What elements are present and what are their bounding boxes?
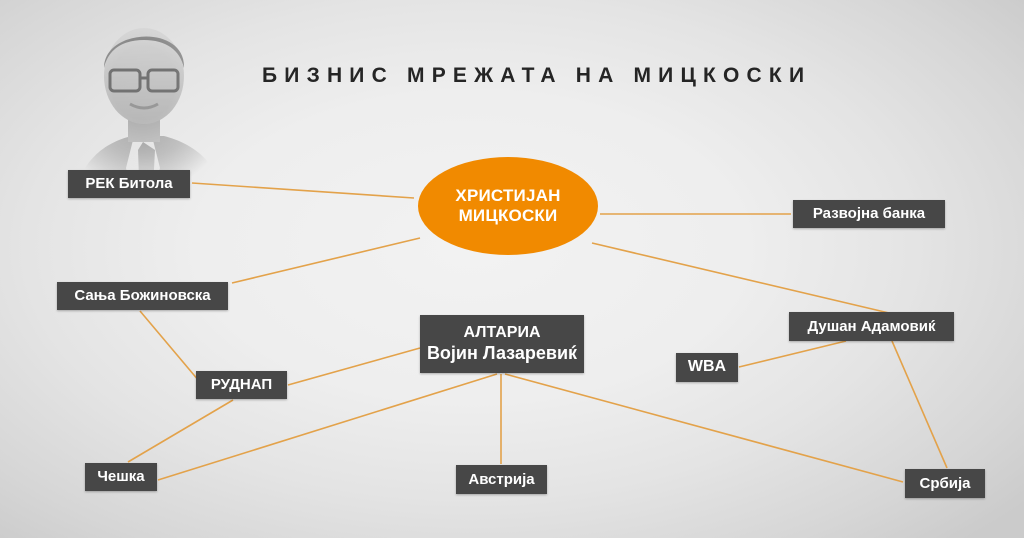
hub-label-line2: МИЦКОСКИ: [459, 206, 558, 226]
edge-hub-to-sanja-bozinovska: [232, 238, 420, 283]
edge-hub-to-rek-bitola: [192, 183, 414, 198]
node-razvojna-banka[interactable]: Развојна банка: [793, 200, 945, 228]
node-ceska[interactable]: Чешка: [85, 463, 157, 491]
central-node-hristijan-mickoski[interactable]: ХРИСТИЈАН МИЦКОСКИ: [418, 157, 598, 255]
node-wba[interactable]: WBA: [676, 353, 738, 382]
node-rudnap[interactable]: РУДНАП: [196, 371, 287, 399]
edge-rudnap-to-ceska: [128, 400, 233, 462]
edge-dusan-adamovik-to-srbija: [892, 341, 947, 468]
hub-label-line1: ХРИСТИЈАН: [455, 186, 560, 206]
edge-sanja-bozinovska-to-rudnap: [140, 311, 199, 381]
node-altaria[interactable]: АЛТАРИАВојин Лазаревиќ: [420, 315, 584, 373]
node-srbija[interactable]: Србија: [905, 469, 985, 498]
node-label-altaria: АЛТАРИА: [463, 324, 540, 343]
edge-altaria-to-srbija: [505, 374, 903, 482]
node-label-avstrija: Австрија: [468, 471, 534, 488]
node-label-razvojna-banka: Развојна банка: [813, 205, 925, 222]
edge-hub-to-dusan-adamovik: [592, 243, 889, 313]
node-dusan-adamovik[interactable]: Душан Адамовиќ: [789, 312, 954, 341]
infographic-canvas: БИЗНИС МРЕЖАТА НА МИЦКОСКИ ХРИСТИЈАН МИЦ…: [0, 0, 1024, 538]
node-rek-bitola[interactable]: РЕК Битола: [68, 170, 190, 198]
node-label-srbija: Србија: [920, 475, 971, 492]
node-label-rudnap: РУДНАП: [211, 376, 272, 393]
page-title: БИЗНИС МРЕЖАТА НА МИЦКОСКИ: [262, 64, 811, 88]
edge-rudnap-to-altaria: [288, 348, 420, 385]
node-sanja-bozinovska[interactable]: Сања Божиновска: [57, 282, 228, 310]
node-sublabel-altaria: Војин Лазаревиќ: [427, 343, 577, 364]
node-avstrija[interactable]: Австрија: [456, 465, 547, 494]
node-label-dusan-adamovik: Душан Адамовиќ: [808, 318, 936, 335]
edge-dusan-adamovik-to-wba: [739, 341, 846, 367]
node-label-rek-bitola: РЕК Битола: [85, 175, 172, 192]
node-label-sanja-bozinovska: Сања Божиновска: [74, 287, 210, 304]
node-label-wba: WBA: [688, 358, 726, 377]
node-label-ceska: Чешка: [97, 468, 144, 485]
